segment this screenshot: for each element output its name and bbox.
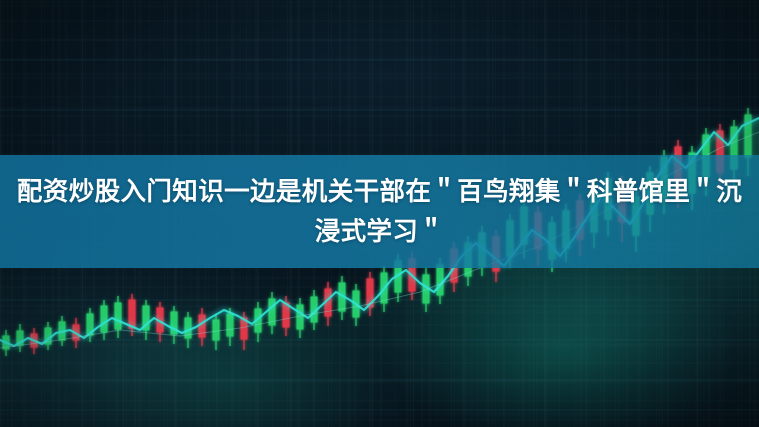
page-title: 配资炒股入门知识一边是机关干部在＂百鸟翔集＂科普馆里＂沉浸式学习＂: [10, 172, 749, 252]
title-banner: 配资炒股入门知识一边是机关干部在＂百鸟翔集＂科普馆里＂沉浸式学习＂: [0, 155, 759, 268]
hero-banner-image: 配资炒股入门知识一边是机关干部在＂百鸟翔集＂科普馆里＂沉浸式学习＂: [0, 0, 759, 427]
